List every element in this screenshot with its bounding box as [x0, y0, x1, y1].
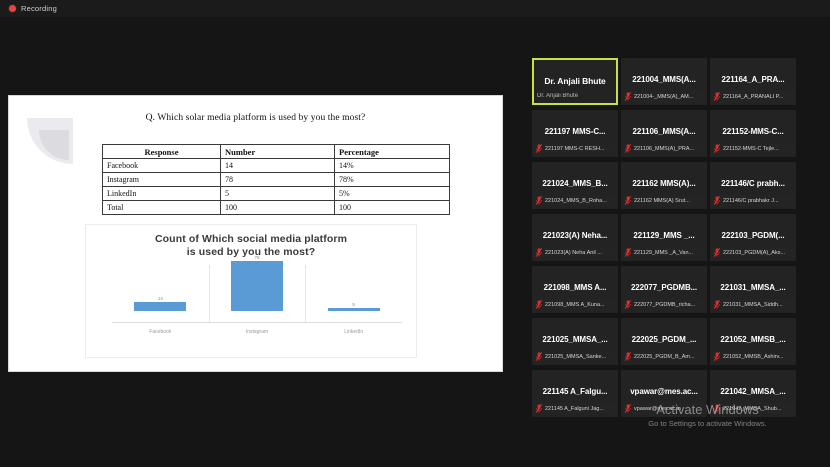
participant-tile[interactable]: 221042_MMSA_...221042_MMSA_Shub...: [710, 370, 796, 417]
participant-tile[interactable]: vpawar@mes.ac...vpawar@mes.ac.in: [621, 370, 707, 417]
participant-tile[interactable]: 221106_MMS(A...221106_MMS(A)_PRA...: [621, 110, 707, 157]
participant-tile-footer: 222103_PGDM(A)_Aks...: [711, 247, 795, 258]
table-header-cell: Response: [103, 145, 221, 159]
chart-bar-group: 14: [112, 241, 209, 311]
participant-name: 221025_MMSA_...: [533, 335, 617, 344]
participant-footer-label: 222077_PGDMB_richa...: [634, 302, 703, 308]
microphone-muted-icon: [625, 92, 631, 101]
participant-name: 221098_MMS A...: [533, 283, 617, 292]
participant-tile-footer: 221106_MMS(A)_PRA...: [622, 143, 706, 154]
table-cell: Instagram: [103, 173, 221, 187]
participant-footer-label: 221129_MMS _A_Van...: [634, 250, 703, 256]
participant-footer-label: 221152-MMS-C Tejle...: [723, 146, 792, 152]
chart-x-axis: [112, 322, 402, 323]
survey-results-table: Response Number Percentage Facebook 14 1…: [102, 144, 450, 215]
chart-bar-value-label: 14: [158, 296, 163, 301]
table-row: Instagram 78 78%: [103, 173, 450, 187]
chart-bar-group: 78: [209, 241, 306, 311]
microphone-muted-icon: [714, 248, 720, 257]
participant-grid[interactable]: Dr. Anjali BhuteDr. Anjali Bhute221004_M…: [532, 58, 798, 417]
bar-chart: Count of Which social media platform is …: [85, 224, 417, 358]
participant-tile-footer: 221004-_MMS(A)_AM...: [622, 91, 706, 102]
participant-footer-label: 221025_MMSA_Sanke...: [545, 354, 614, 360]
participant-name: 222077_PGDMB...: [622, 283, 706, 292]
participant-footer-label: Dr. Anjali Bhute: [537, 93, 613, 99]
participant-name: 221152-MMS-C...: [711, 127, 795, 136]
participant-footer-label: 221164_A_PRANALI P...: [723, 94, 792, 100]
participant-name: 221164_A_PRA...: [711, 75, 795, 84]
microphone-muted-icon: [714, 300, 720, 309]
participant-tile[interactable]: 221146/C prabh...221146/C prabhakr J...: [710, 162, 796, 209]
table-row: LinkedIn 5 5%: [103, 187, 450, 201]
participant-footer-label: 221031_MMSA_Siddh...: [723, 302, 792, 308]
table-cell: 78%: [335, 173, 450, 187]
participant-tile-footer: 221162 MMS(A) Srut...: [622, 195, 706, 206]
participant-name: 221024_MMS_B...: [533, 179, 617, 188]
participant-tile-footer: 221164_A_PRANALI P...: [711, 91, 795, 102]
participant-footer-label: 221162 MMS(A) Srut...: [634, 198, 703, 204]
table-cell: 14%: [335, 159, 450, 173]
participant-tile[interactable]: 221152-MMS-C...221152-MMS-C Tejle...: [710, 110, 796, 157]
participant-tile-footer: 221129_MMS _A_Van...: [622, 247, 706, 258]
participant-footer-label: vpawar@mes.ac.in: [634, 406, 703, 412]
participant-tile[interactable]: 221145 A_Falgu...221145 A_Falguni Jag...: [532, 370, 618, 417]
table-cell: Total: [103, 201, 221, 215]
participant-name: vpawar@mes.ac...: [622, 387, 706, 396]
table-cell: LinkedIn: [103, 187, 221, 201]
microphone-muted-icon: [625, 404, 631, 413]
participant-tile-footer: 221197 MMS-C RESH...: [533, 143, 617, 154]
participant-name: 221004_MMS(A...: [622, 75, 706, 84]
microphone-muted-icon: [714, 92, 720, 101]
table-cell: Facebook: [103, 159, 221, 173]
microphone-muted-icon: [625, 352, 631, 361]
shared-screen-slide: Q. Which solar media platform is used by…: [8, 95, 503, 372]
participant-footer-label: 221145 A_Falguni Jag...: [545, 406, 614, 412]
microphone-muted-icon: [625, 248, 631, 257]
participant-tile-footer: 221024_MMS_B_Roha...: [533, 195, 617, 206]
participant-footer-label: 221197 MMS-C RESH...: [545, 146, 614, 152]
table-cell: 100: [335, 201, 450, 215]
participant-tile-footer: 221145 A_Falguni Jag...: [533, 403, 617, 414]
chart-category-label: Facebook: [112, 329, 209, 335]
participant-tile[interactable]: 221162 MMS(A)...221162 MMS(A) Srut...: [621, 162, 707, 209]
participant-tile[interactable]: 221164_A_PRA...221164_A_PRANALI P...: [710, 58, 796, 105]
participant-tile[interactable]: 221031_MMSA_...221031_MMSA_Siddh...: [710, 266, 796, 313]
microphone-muted-icon: [536, 144, 542, 153]
participant-tile-footer: 221098_MMS A_Kuna...: [533, 299, 617, 310]
table-cell: 78: [221, 173, 335, 187]
table-header-cell: Percentage: [335, 145, 450, 159]
participant-footer-label: 221098_MMS A_Kuna...: [545, 302, 614, 308]
table-header-cell: Number: [221, 145, 335, 159]
participant-tile[interactable]: 222077_PGDMB...222077_PGDMB_richa...: [621, 266, 707, 313]
participant-tile[interactable]: 221129_MMS _...221129_MMS _A_Van...: [621, 214, 707, 261]
participant-tile[interactable]: 221052_MMSB_...221052_MMSB_Ashirv...: [710, 318, 796, 365]
microphone-muted-icon: [625, 196, 631, 205]
participant-name: 221106_MMS(A...: [622, 127, 706, 136]
microphone-muted-icon: [536, 300, 542, 309]
participant-tile[interactable]: 221197 MMS-C...221197 MMS-C RESH...: [532, 110, 618, 157]
participant-tile-footer: Dr. Anjali Bhute: [534, 90, 616, 101]
participant-tile[interactable]: 221098_MMS A...221098_MMS A_Kuna...: [532, 266, 618, 313]
participant-name: 221129_MMS _...: [622, 231, 706, 240]
microphone-muted-icon: [536, 352, 542, 361]
participant-name: 221197 MMS-C...: [533, 127, 617, 136]
participant-tile[interactable]: 222103_PGDM(...222103_PGDM(A)_Aks...: [710, 214, 796, 261]
chart-category-label: LinkedIn: [305, 329, 402, 335]
slide-decoration-arc-inner: [39, 130, 69, 160]
participant-name: 221031_MMSA_...: [711, 283, 795, 292]
table-cell: 14: [221, 159, 335, 173]
chart-bar: [328, 308, 380, 311]
participant-tile-footer: 221042_MMSA_Shub...: [711, 403, 795, 414]
participant-footer-label: 222025_PGDM_B_Am...: [634, 354, 703, 360]
chart-bar-group: 5: [305, 241, 402, 311]
participant-tile[interactable]: 221023(A) Neha...221023(A) Neha Anil ...: [532, 214, 618, 261]
participant-tile-footer: 221031_MMSA_Siddh...: [711, 299, 795, 310]
participant-name: 221162 MMS(A)...: [622, 179, 706, 188]
participant-tile-footer: 222077_PGDMB_richa...: [622, 299, 706, 310]
participant-footer-label: 221146/C prabhakr J...: [723, 198, 792, 204]
chart-bars-container: 14785: [112, 265, 402, 323]
meeting-stage: Q. Which solar media platform is used by…: [0, 17, 830, 467]
participant-footer-label: 221052_MMSB_Ashirv...: [723, 354, 792, 360]
participant-name: 221042_MMSA_...: [711, 387, 795, 396]
participant-name: 222103_PGDM(...: [711, 231, 795, 240]
chart-bar: [231, 261, 283, 311]
participant-tile-footer: 222025_PGDM_B_Am...: [622, 351, 706, 362]
participant-footer-label: 221023(A) Neha Anil ...: [545, 250, 614, 256]
chart-plot-area: 14785 FacebookInstagramLinkedIn: [112, 265, 402, 335]
microphone-muted-icon: [625, 300, 631, 309]
recording-indicator-icon: [9, 5, 16, 12]
participant-footer-label: 221042_MMSA_Shub...: [723, 406, 792, 412]
microphone-muted-icon: [625, 144, 631, 153]
microphone-muted-icon: [714, 144, 720, 153]
participant-tile-footer: 221152-MMS-C Tejle...: [711, 143, 795, 154]
microphone-muted-icon: [536, 196, 542, 205]
participant-name: Dr. Anjali Bhute: [534, 76, 616, 86]
microphone-muted-icon: [714, 196, 720, 205]
table-row: Facebook 14 14%: [103, 159, 450, 173]
participant-name: 221146/C prabh...: [711, 179, 795, 188]
participant-tile[interactable]: 222025_PGDM_...222025_PGDM_B_Am...: [621, 318, 707, 365]
slide-question-text: Q. Which solar media platform is used by…: [9, 113, 502, 123]
microphone-muted-icon: [536, 248, 542, 257]
participant-name: 221145 A_Falgu...: [533, 387, 617, 396]
table-cell: 5: [221, 187, 335, 201]
participant-footer-label: 221024_MMS_B_Roha...: [545, 198, 614, 204]
participant-tile-footer: 221023(A) Neha Anil ...: [533, 247, 617, 258]
table-cell: 5%: [335, 187, 450, 201]
participant-tile-footer: 221146/C prabhakr J...: [711, 195, 795, 206]
participant-tile[interactable]: 221024_MMS_B...221024_MMS_B_Roha...: [532, 162, 618, 209]
participant-tile-footer: 221025_MMSA_Sanke...: [533, 351, 617, 362]
participant-name: 221023(A) Neha...: [533, 231, 617, 240]
participant-name: 221052_MMSB_...: [711, 335, 795, 344]
chart-bar: [134, 302, 186, 311]
participant-footer-label: 221106_MMS(A)_PRA...: [634, 146, 703, 152]
table-header-row: Response Number Percentage: [103, 145, 450, 159]
chart-bar-value-label: 5: [352, 302, 355, 307]
recording-label: Recording: [21, 4, 57, 13]
microphone-muted-icon: [714, 404, 720, 413]
table-cell: 100: [221, 201, 335, 215]
participant-tile[interactable]: 221004_MMS(A...221004-_MMS(A)_AM...: [621, 58, 707, 105]
activate-windows-subtitle: Go to Settings to activate Windows.: [585, 418, 830, 429]
participant-tile-active[interactable]: Dr. Anjali BhuteDr. Anjali Bhute: [532, 58, 618, 105]
microphone-muted-icon: [536, 404, 542, 413]
microphone-muted-icon: [714, 352, 720, 361]
chart-bar-value-label: 78: [254, 255, 259, 260]
chart-category-label: Instagram: [209, 329, 306, 335]
participant-name: 222025_PGDM_...: [622, 335, 706, 344]
participant-tile[interactable]: 221025_MMSA_...221025_MMSA_Sanke...: [532, 318, 618, 365]
participant-footer-label: 222103_PGDM(A)_Aks...: [723, 250, 792, 256]
recording-bar: Recording: [0, 0, 830, 17]
participant-footer-label: 221004-_MMS(A)_AM...: [634, 94, 703, 100]
table-row: Total 100 100: [103, 201, 450, 215]
participant-tile-footer: 221052_MMSB_Ashirv...: [711, 351, 795, 362]
participant-tile-footer: vpawar@mes.ac.in: [622, 403, 706, 414]
